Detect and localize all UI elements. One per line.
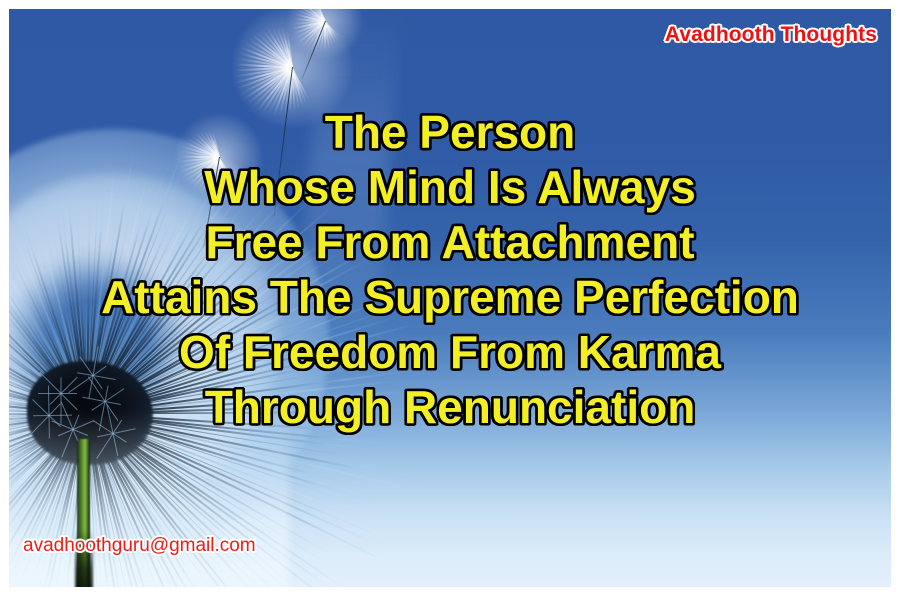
- quote-poster: Avadhooth Thoughts The Person Whose Mind…: [0, 0, 900, 596]
- poster-canvas: Avadhooth Thoughts The Person Whose Mind…: [9, 9, 891, 587]
- contact-email: avadhoothguru@gmail.com: [23, 535, 256, 557]
- brand-title: Avadhooth Thoughts: [665, 23, 877, 47]
- frost-wash: [9, 409, 289, 587]
- dandelion-photo: [9, 9, 891, 587]
